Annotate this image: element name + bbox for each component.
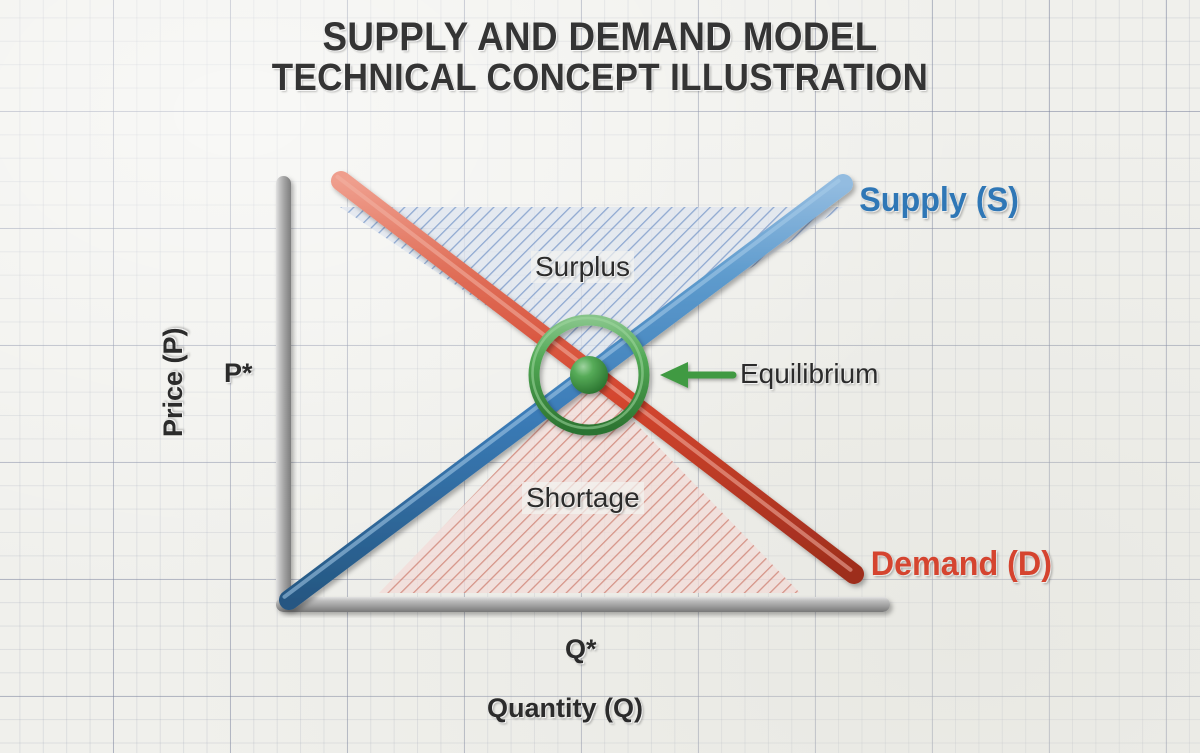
supply-curve-label: Supply (S) [859,181,1019,220]
shortage-region-label: Shortage [522,482,644,514]
illustration-canvas: SUPPLY AND DEMAND MODEL TECHNICAL CONCEP… [0,0,1200,753]
y-axis-title: Price (P) [158,327,189,437]
y-axis-bar [276,176,291,606]
demand-curve-label: Demand (D) [871,545,1052,584]
surplus-region-label: Surplus [531,251,634,283]
quantity-tick-label: Q* [565,634,597,665]
equilibrium-arrow-icon [660,362,733,388]
price-tick-label: P* [224,358,253,389]
x-axis-bar [276,597,890,612]
x-axis-title: Quantity (Q) [487,693,643,724]
equilibrium-label: Equilibrium [740,358,879,390]
